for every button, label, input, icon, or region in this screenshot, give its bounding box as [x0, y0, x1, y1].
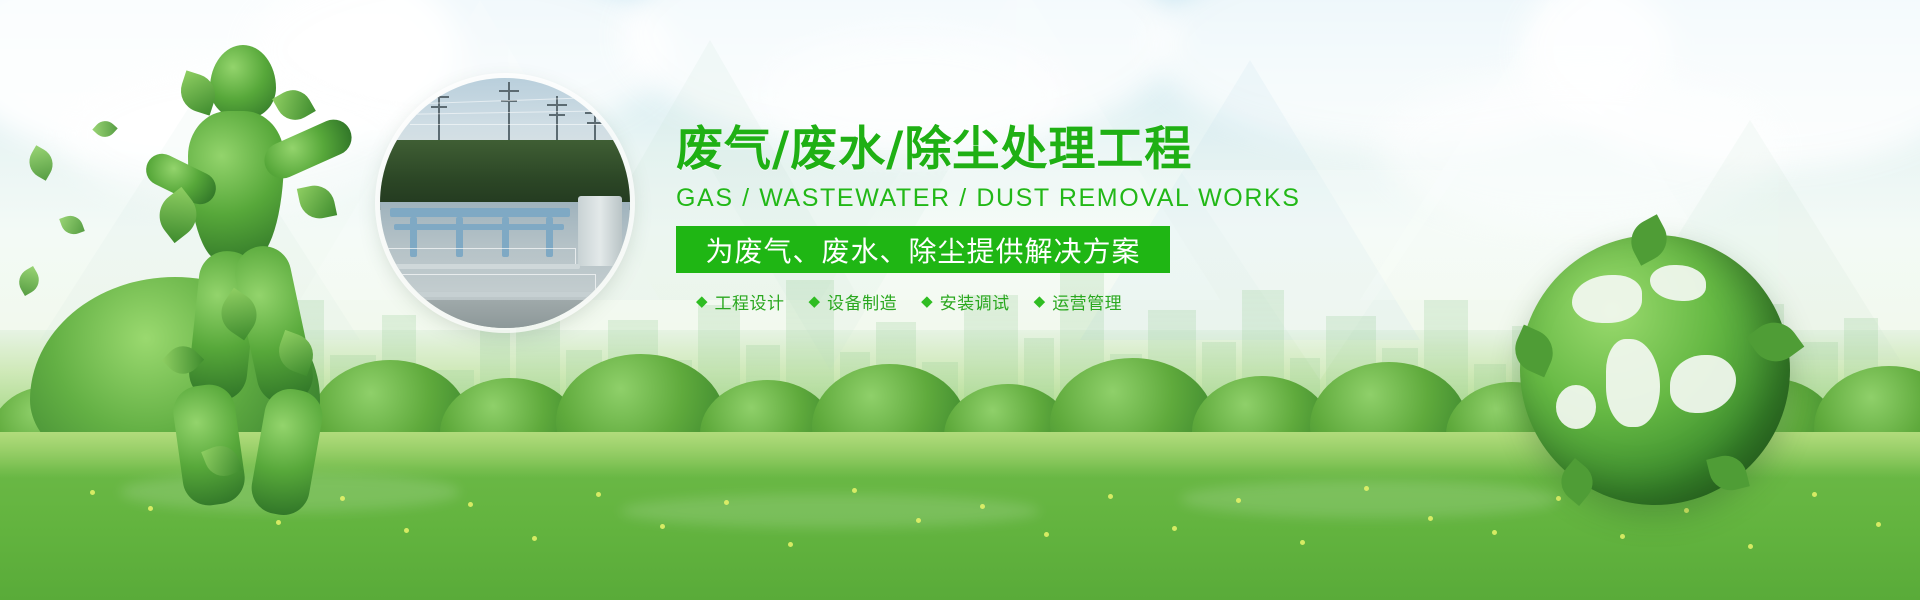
leaf-man-figure: [150, 45, 380, 525]
service-bullet-list: ◆ 工程设计 ◆ 设备制造 ◆ 安装调试 ◆ 运营管理: [676, 289, 1206, 314]
diamond-icon: ◆: [1034, 294, 1046, 309]
green-globe: [1520, 235, 1790, 505]
list-item[interactable]: ◆ 设备制造: [809, 289, 898, 314]
list-item-label: 运营管理: [1052, 289, 1122, 314]
diamond-icon: ◆: [921, 294, 933, 309]
list-item-label: 安装调试: [940, 289, 1010, 314]
banner-text-block: 废气/废水/除尘处理工程 GAS / WASTEWATER / DUST REM…: [676, 126, 1206, 314]
page-title: 废气/废水/除尘处理工程: [676, 126, 1206, 173]
list-item-label: 工程设计: [715, 289, 785, 314]
subtitle-english: GAS / WASTEWATER / DUST REMOVAL WORKS: [676, 184, 1206, 213]
wastewater-plant-photo: [380, 78, 630, 328]
slogan-text: 为废气、废水、除尘提供解决方案: [705, 230, 1140, 270]
list-item[interactable]: ◆ 工程设计: [696, 289, 785, 314]
marketing-banner: 废气/废水/除尘处理工程 GAS / WASTEWATER / DUST REM…: [0, 0, 1920, 600]
diamond-icon: ◆: [696, 294, 708, 309]
list-item[interactable]: ◆ 运营管理: [1034, 289, 1123, 314]
list-item-label: 设备制造: [827, 289, 897, 314]
slogan-bar: 为废气、废水、除尘提供解决方案: [676, 226, 1170, 273]
list-item[interactable]: ◆ 安装调试: [921, 289, 1010, 314]
diamond-icon: ◆: [809, 294, 821, 309]
